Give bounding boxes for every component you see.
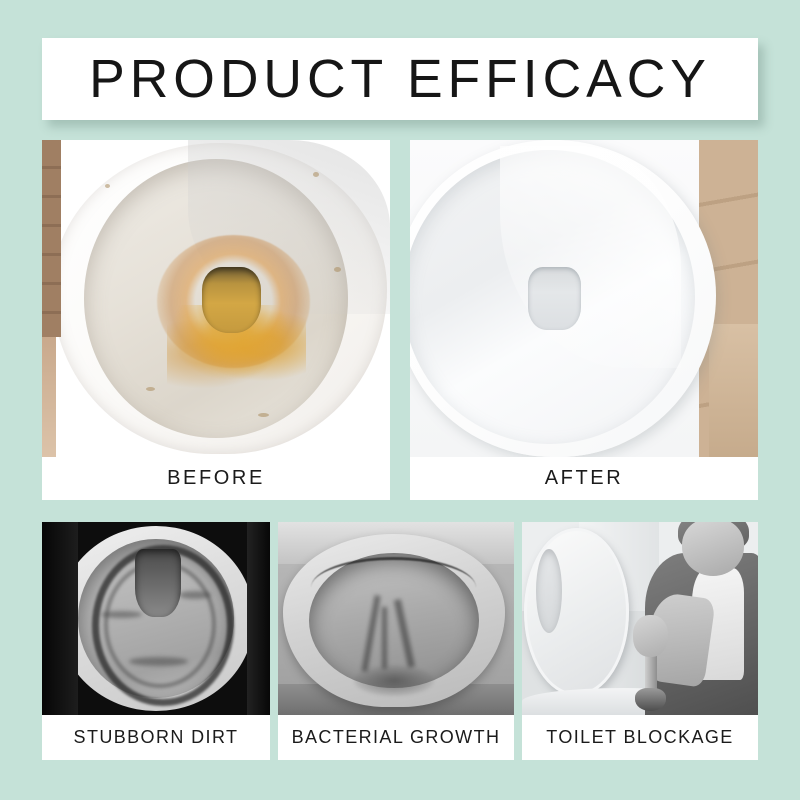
- bacteria-streak: [382, 607, 387, 669]
- comparison-card-before: BEFORE: [42, 140, 390, 500]
- problem-card-bacterial-growth: BACTERIAL GROWTH: [278, 522, 514, 760]
- caption-label-after: AFTER: [545, 467, 624, 490]
- title-banner: PRODUCT EFFICACY: [42, 38, 758, 120]
- drain-hole: [135, 549, 181, 617]
- toilet-lid: [524, 528, 629, 696]
- stubborn-dirt-photo: [42, 522, 270, 715]
- after-photo: [410, 140, 758, 457]
- bacteria-pool: [354, 665, 434, 696]
- caption-strip-before: BEFORE: [42, 457, 390, 500]
- caption-strip-after: AFTER: [410, 457, 758, 500]
- dark-corner-right: [247, 522, 270, 715]
- floor-tile-lower: [709, 324, 758, 457]
- bacterial-growth-photo: [278, 522, 514, 715]
- drain-hole: [528, 267, 580, 330]
- floor-strip: [42, 337, 56, 457]
- comparison-card-after: AFTER: [410, 140, 758, 500]
- person-hand: [633, 615, 668, 657]
- wall-tile-strip: [42, 140, 61, 337]
- caption-strip-toilet-blockage: TOILET BLOCKAGE: [522, 715, 758, 760]
- grime-streak: [101, 611, 142, 618]
- caption-label-toilet-blockage: TOILET BLOCKAGE: [546, 727, 733, 748]
- toilet-lid-inner: [536, 549, 562, 633]
- page-title: PRODUCT EFFICACY: [89, 52, 711, 106]
- problem-card-stubborn-dirt: STUBBORN DIRT: [42, 522, 270, 760]
- rim-shadow-line: [311, 557, 476, 618]
- plunger-cup: [635, 688, 666, 711]
- drain-hole: [202, 267, 261, 334]
- dark-corner-left: [42, 522, 78, 715]
- caption-label-stubborn-dirt: STUBBORN DIRT: [74, 727, 239, 748]
- caption-label-bacterial-growth: BACTERIAL GROWTH: [292, 727, 501, 748]
- grime-streak: [129, 657, 188, 666]
- before-photo: [42, 140, 390, 457]
- caption-strip-stubborn-dirt: STUBBORN DIRT: [42, 715, 270, 760]
- caption-strip-bacterial-growth: BACTERIAL GROWTH: [278, 715, 514, 760]
- toilet-blockage-photo: [522, 522, 758, 715]
- stain-speck: [258, 413, 269, 417]
- problem-card-toilet-blockage: TOILET BLOCKAGE: [522, 522, 758, 760]
- caption-label-before: BEFORE: [167, 467, 265, 490]
